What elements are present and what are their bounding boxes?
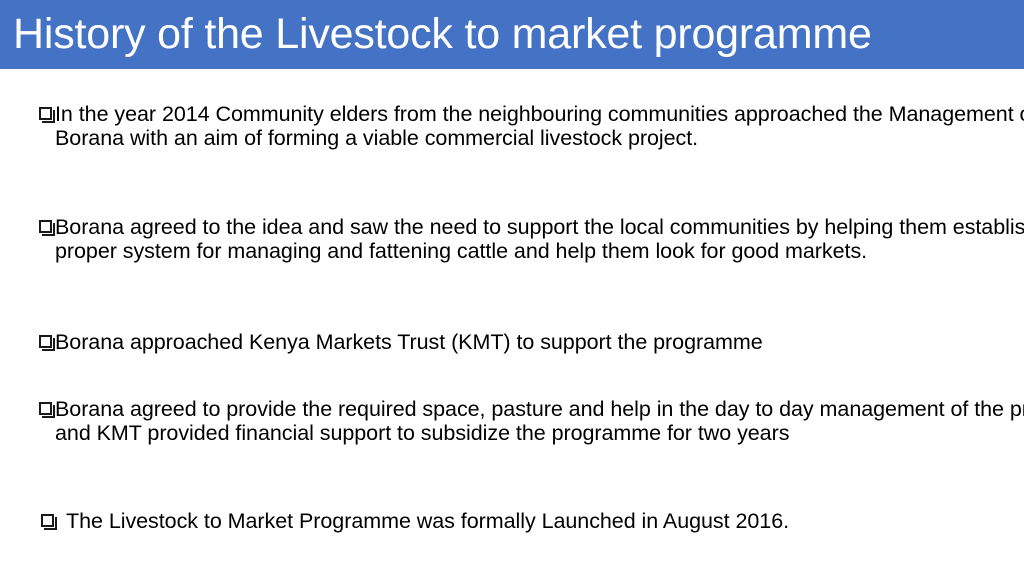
list-item: Borana agreed to provide the required sp… [0,398,1024,445]
list-item: The Livestock to Market Programme was fo… [0,510,1024,534]
hollow-square-bullet-icon [39,103,57,127]
page-title: History of the Livestock to market progr… [13,4,1012,64]
list-item: Borana approached Kenya Markets Trust (K… [0,331,1024,355]
list-item-text: Borana agreed to the idea and saw the ne… [55,216,1024,263]
hollow-square-bullet-icon [41,510,59,534]
list-item-text: In the year 2014 Community elders from t… [55,103,1024,150]
list-item: Borana agreed to the idea and saw the ne… [0,216,1024,263]
title-band: History of the Livestock to market progr… [0,0,1024,69]
list-item-text: Borana agreed to provide the required sp… [55,398,1024,445]
hollow-square-bullet-icon [39,216,57,240]
list-item: In the year 2014 Community elders from t… [0,103,1024,150]
list-item-text: The Livestock to Market Programme was fo… [66,510,1024,534]
slide: History of the Livestock to market progr… [0,0,1024,576]
list-item-text: Borana approached Kenya Markets Trust (K… [55,331,1024,355]
hollow-square-bullet-icon [39,398,57,422]
slide-body: In the year 2014 Community elders from t… [0,69,1024,576]
hollow-square-bullet-icon [39,331,57,355]
